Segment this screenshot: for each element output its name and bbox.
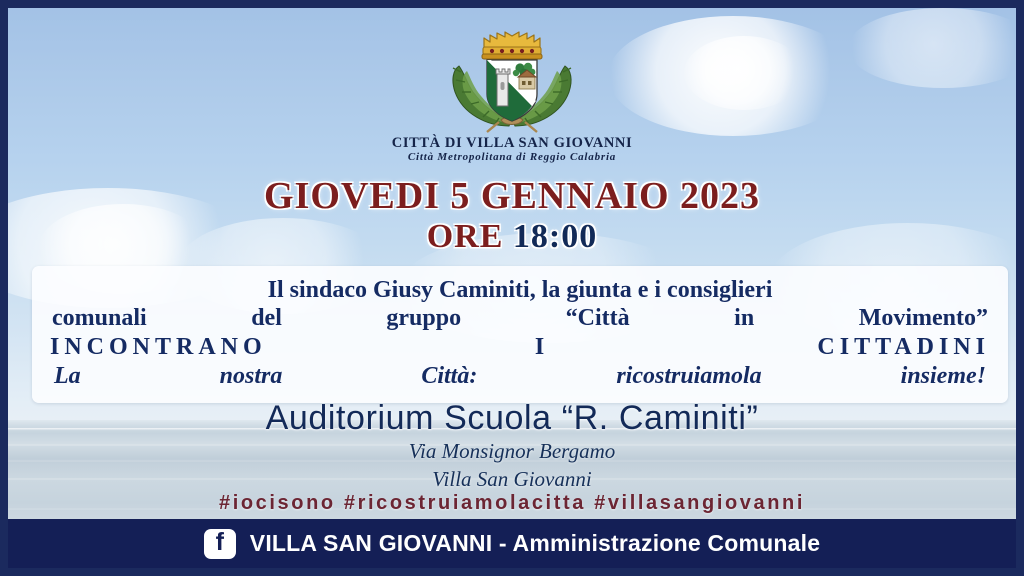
- message-line-4: La nostra Città: ricostruiamola insieme!: [48, 362, 992, 391]
- message-line-3: INCONTRANO I CITTADINI: [48, 333, 992, 362]
- hashtag-line: #iocisono #ricostruiamolacitta #villasan…: [8, 492, 1016, 515]
- event-time: ORE 18:00: [8, 218, 1016, 256]
- venue-block: Auditorium Scuola “R. Caminiti” Via Mons…: [8, 400, 1016, 493]
- time-value: 18:00: [513, 218, 597, 255]
- event-poster: CITTÀ DI VILLA SAN GIOVANNI Città Metrop…: [0, 0, 1024, 576]
- venue-name: Auditorium Scuola “R. Caminiti”: [8, 400, 1016, 437]
- event-date: GIOVEDI 5 GENNAIO 2023: [8, 176, 1016, 217]
- footer-bar: f VILLA SAN GIOVANNI - Amministrazione C…: [8, 519, 1016, 568]
- crest-title: CITTÀ DI VILLA SAN GIOVANNI: [8, 136, 1016, 151]
- crest-subtitle: Città Metropolitana di Reggio Calabria: [8, 151, 1016, 164]
- message-panel: Il sindaco Giusy Caminiti, la giunta e i…: [32, 266, 1008, 403]
- date-block: GIOVEDI 5 GENNAIO 2023 ORE 18:00: [8, 176, 1016, 256]
- coat-of-arms-icon: [437, 22, 587, 134]
- footer-text: VILLA SAN GIOVANNI - Amministrazione Com…: [250, 530, 820, 557]
- facebook-glyph: f: [216, 530, 224, 555]
- time-label: ORE: [427, 218, 504, 255]
- message-line-1: Il sindaco Giusy Caminiti, la giunta e i…: [48, 276, 992, 304]
- venue-street: Via Monsignor Bergamo: [8, 439, 1016, 465]
- crest-block: CITTÀ DI VILLA SAN GIOVANNI Città Metrop…: [8, 22, 1016, 164]
- venue-city: Villa San Giovanni: [8, 467, 1016, 493]
- facebook-icon[interactable]: f: [204, 529, 236, 559]
- message-line-2: comunali del gruppo “Città in Movimento”: [48, 304, 992, 332]
